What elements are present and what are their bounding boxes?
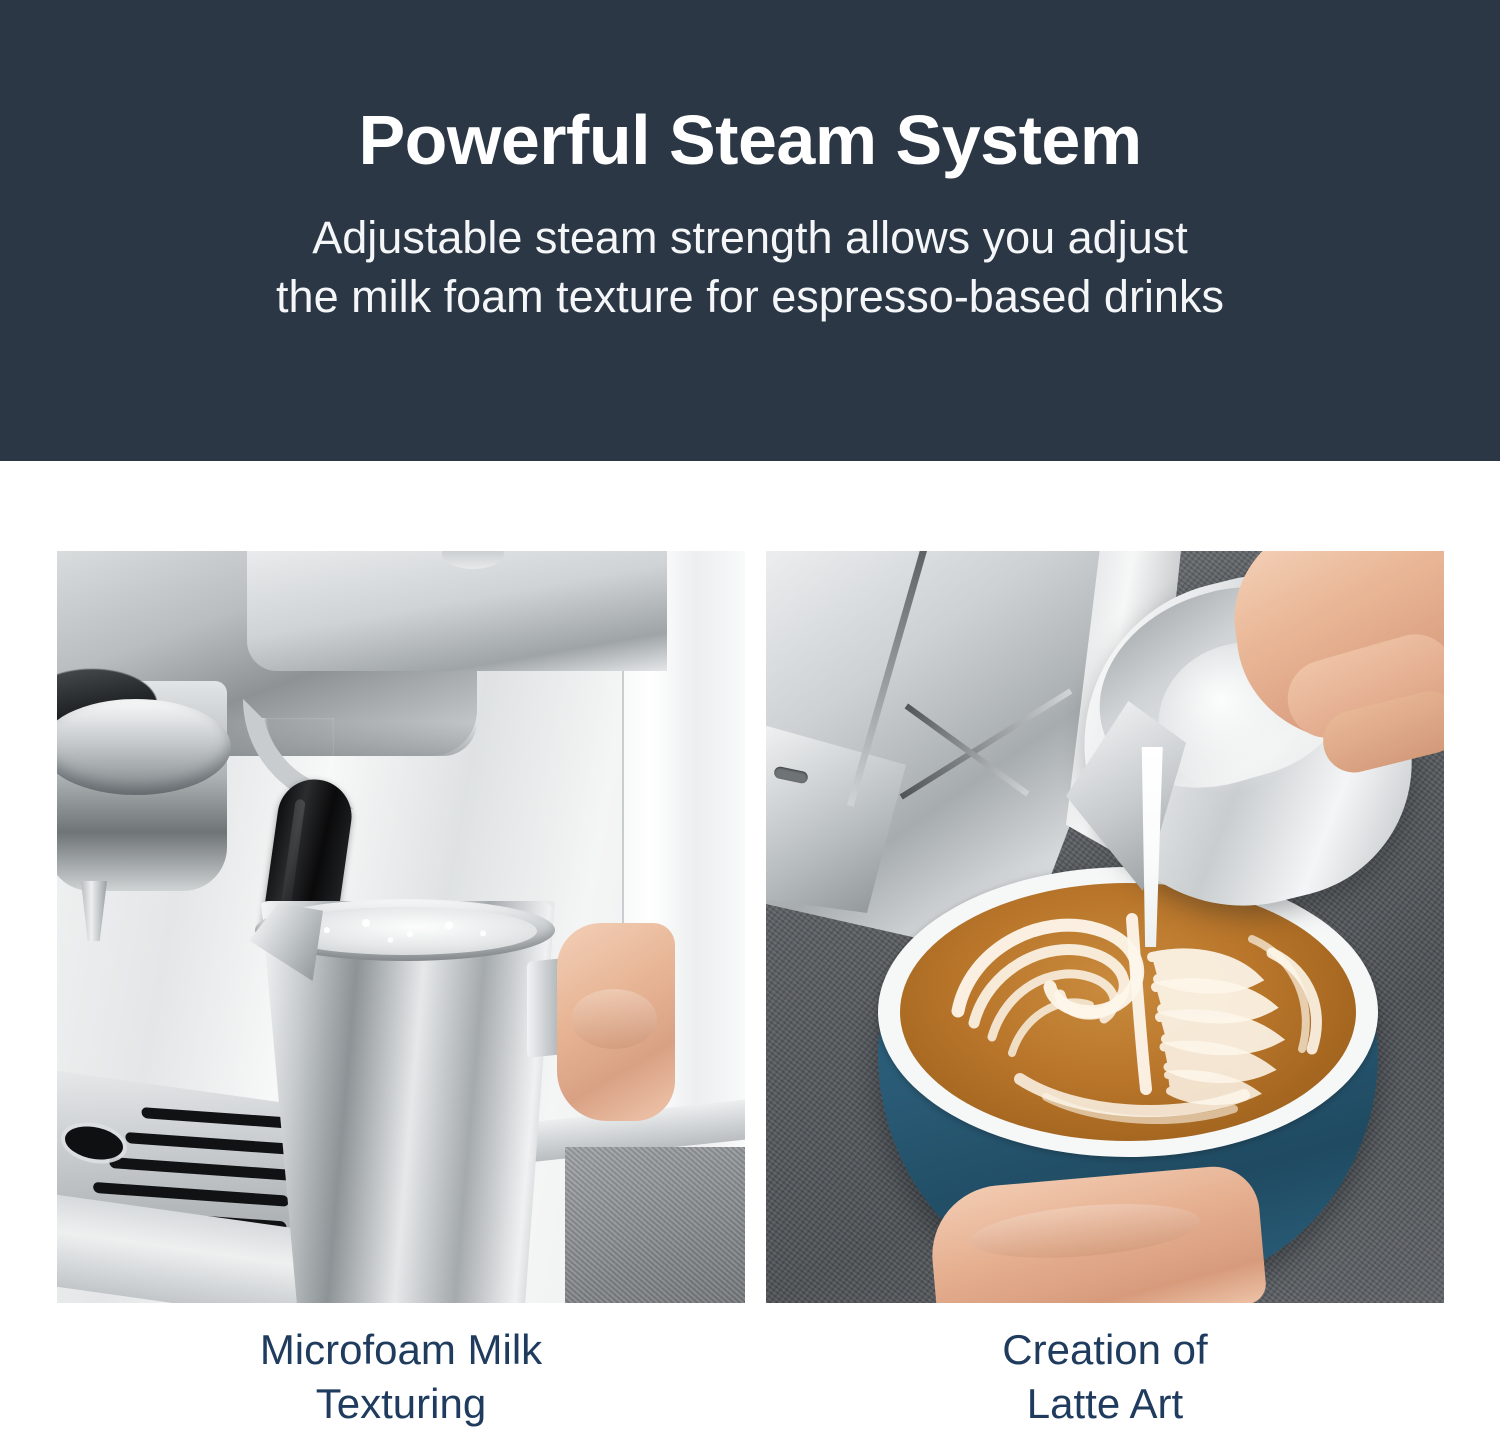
photo-creation-of-latte-art	[766, 551, 1444, 1303]
product-feature-page: Powerful Steam System Adjustable steam s…	[0, 0, 1500, 1446]
caption-latte-art: Creation of Latte Art	[766, 1323, 1444, 1431]
gallery-panel-microfoam: Microfoam Milk Texturing	[57, 551, 745, 1303]
coffee-surface	[900, 883, 1356, 1141]
header-banner: Powerful Steam System Adjustable steam s…	[0, 0, 1500, 461]
feature-gallery: Microfoam Milk Texturing	[0, 461, 1500, 1446]
gallery-panel-latte-art: Creation of Latte Art	[766, 551, 1444, 1303]
hand-holding-pitcher	[557, 923, 675, 1121]
machine-top-panel	[247, 551, 667, 671]
page-subtitle-line-2: the milk foam texture for espresso-based…	[276, 267, 1224, 327]
latte-art	[900, 883, 1356, 1141]
caption-line-2: Latte Art	[766, 1377, 1444, 1431]
page-title: Powerful Steam System	[358, 104, 1141, 178]
caption-line-1: Creation of	[766, 1323, 1444, 1377]
photo-microfoam-milk-texturing	[57, 551, 745, 1303]
countertop	[565, 1147, 745, 1303]
caption-line-1: Microfoam Milk	[57, 1323, 745, 1377]
caption-microfoam: Microfoam Milk Texturing	[57, 1323, 745, 1431]
page-subtitle: Adjustable steam strength allows you adj…	[276, 208, 1224, 328]
caption-line-2: Texturing	[57, 1377, 745, 1431]
page-subtitle-line-1: Adjustable steam strength allows you adj…	[276, 208, 1224, 268]
